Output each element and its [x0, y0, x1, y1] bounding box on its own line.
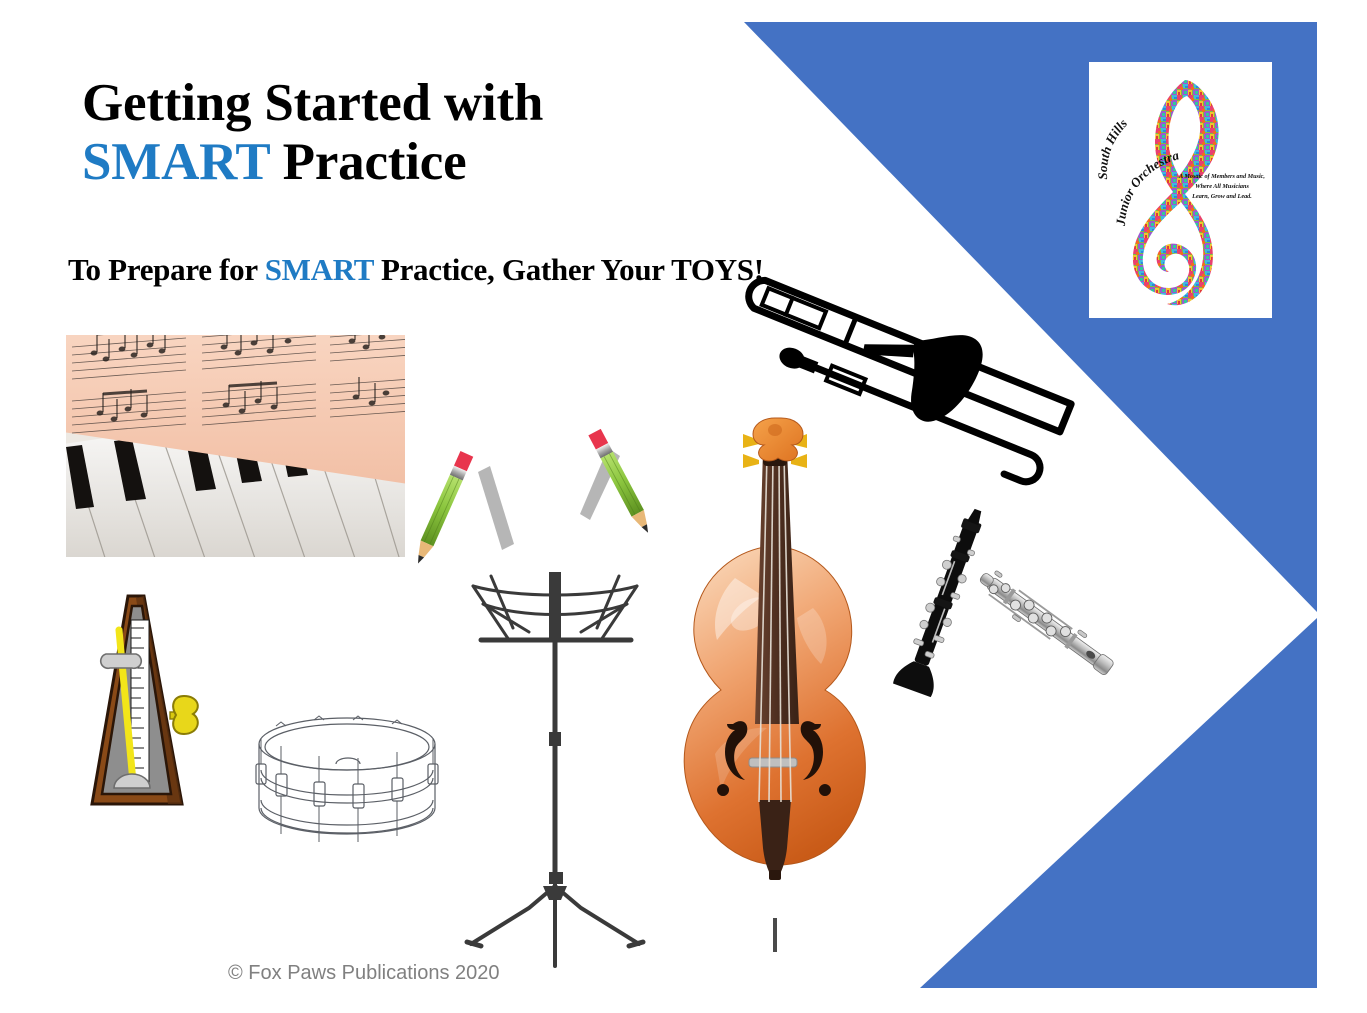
logo-tagline-line-2: Where All Musicians [1195, 183, 1249, 190]
slide-subtitle: To Prepare for SMART Practice, Gather Yo… [68, 252, 968, 288]
copyright-notice: © Fox Paws Publications 2020 [228, 962, 500, 985]
presentation-slide: Getting Started with SMART Practice To P… [0, 0, 1367, 1013]
pencil-left [412, 451, 474, 566]
title-smart-accent: SMART [82, 133, 270, 191]
pencils-illustration [432, 404, 648, 574]
metronome-illustration [72, 592, 224, 814]
page-title: Getting Started with SMART Practice [82, 74, 742, 193]
trombone-illustration [692, 312, 1116, 512]
svg-text:South Hills: South Hills [1095, 116, 1130, 180]
subtitle-after-text: Practice, Gather Your TOYS! [374, 252, 764, 287]
flute-illustration [958, 556, 1138, 694]
snare-drum-illustration [252, 712, 442, 872]
title-line-1: Getting Started with [82, 74, 742, 133]
subtitle-before-text: To Prepare for [68, 252, 265, 287]
sheet-music-photo [66, 335, 405, 557]
logo-tagline-line-3: Learn, Grow and Lead. [1191, 193, 1252, 200]
orchestra-logo: South Hills Junior Orchestra A Mosaic of… [1089, 62, 1272, 318]
subtitle-smart-accent: SMART [265, 252, 374, 287]
logo-name-top: South Hills [1095, 116, 1130, 180]
metronome-winder [170, 696, 198, 734]
title-line-2: SMART Practice [82, 133, 742, 192]
title-practice-text: Practice [270, 133, 467, 191]
music-stand-illustration [455, 556, 655, 966]
logo-tagline-line-1: A Mosaic of Members and Music, [1178, 173, 1265, 180]
